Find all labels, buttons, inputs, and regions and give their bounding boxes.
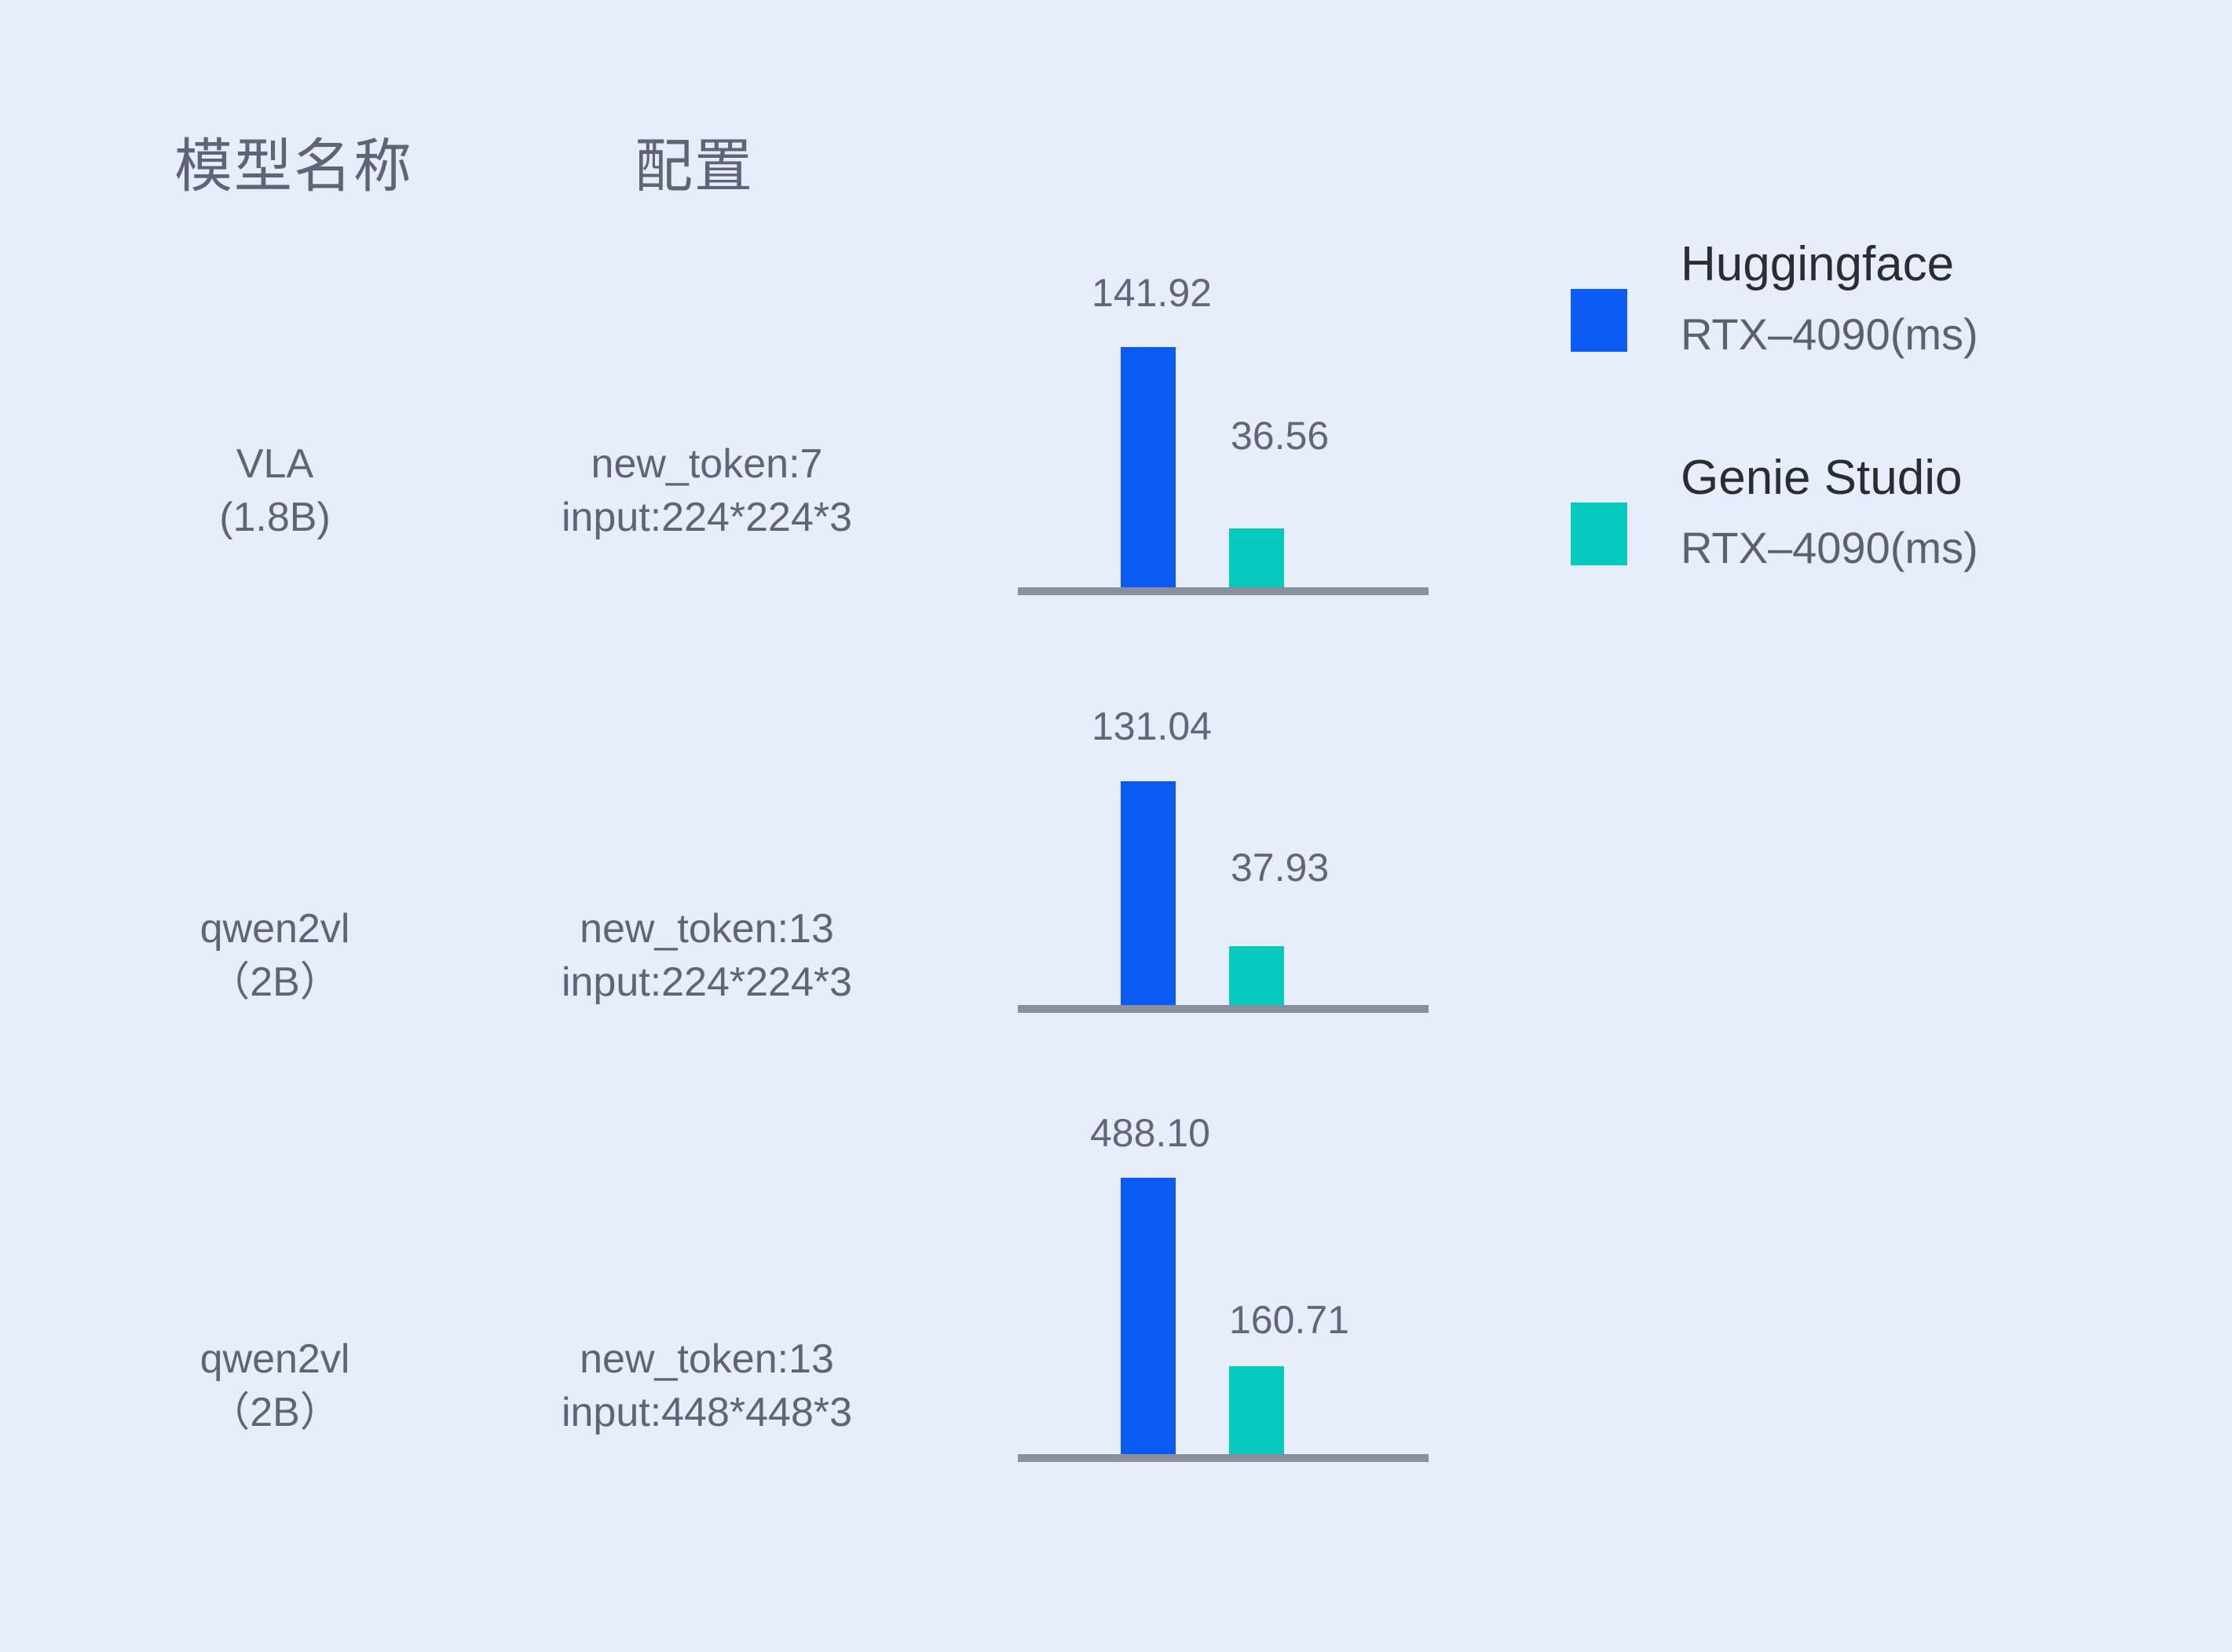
chart-baseline [1018,1454,1429,1462]
chart-baseline [1018,587,1429,595]
row-config: new_token:7 input:224*224*3 [456,438,958,544]
row-model-name-line1: VLA [236,441,313,487]
row-model-name-line2: （2B） [110,1387,440,1440]
legend-color-swatch-icon [1571,503,1627,565]
bar-genie-studio[interactable] [1229,1366,1284,1454]
bar-value-label-huggingface: 488.10 [1090,1113,1210,1153]
row-model-name: qwen2vl （2B） [110,903,440,1009]
legend-item-subtitle: RTX–4090(ms) [1681,308,1978,360]
chart-baseline [1018,1005,1429,1013]
legend-item-title: Huggingface [1681,236,1954,294]
row-config-line1: new_token:13 [580,906,834,952]
column-header-config: 配置 [635,137,754,196]
bar-genie-studio[interactable] [1229,528,1284,587]
row-model-name-line1: qwen2vl [200,1336,350,1382]
bar-value-label-genie-studio: 36.56 [1231,416,1329,455]
row-model-name-line2: (1.8B) [110,492,440,545]
row-model-name-line1: qwen2vl [200,906,350,952]
bar-value-label-huggingface: 131.04 [1092,707,1212,746]
row-config-line1: new_token:7 [591,441,823,487]
row-model-name: qwen2vl （2B） [110,1333,440,1439]
row-config: new_token:13 input:448*448*3 [456,1333,958,1439]
legend-item-huggingface[interactable]: Huggingface RTX–4090(ms) [1555,236,2105,416]
bar-value-label-huggingface: 141.92 [1092,273,1212,312]
bar-huggingface[interactable] [1121,1178,1176,1459]
row-model-name: VLA (1.8B) [110,438,440,544]
legend-item-title: Genie Studio [1681,449,1962,507]
bar-value-label-genie-studio: 160.71 [1229,1300,1349,1340]
bar-huggingface[interactable] [1121,347,1176,587]
column-header-model-name: 模型名称 [174,137,413,196]
slide-canvas: 模型名称 配置 VLA (1.8B) new_token:7 input:224… [0,0,2232,1652]
legend-item-genie-studio[interactable]: Genie Studio RTX–4090(ms) [1555,449,2105,630]
row-config: new_token:13 input:224*224*3 [456,903,958,1009]
legend-item-subtitle: RTX–4090(ms) [1681,521,1978,574]
row-config-line1: new_token:13 [580,1336,834,1382]
row-config-line2: input:224*224*3 [456,956,958,1010]
row-config-line2: input:448*448*3 [456,1387,958,1440]
legend-color-swatch-icon [1571,289,1627,352]
row-model-name-line2: （2B） [110,956,440,1010]
bar-genie-studio[interactable] [1229,946,1284,1005]
row-config-line2: input:224*224*3 [456,492,958,545]
bar-huggingface[interactable] [1121,781,1176,1005]
bar-value-label-genie-studio: 37.93 [1231,848,1329,887]
